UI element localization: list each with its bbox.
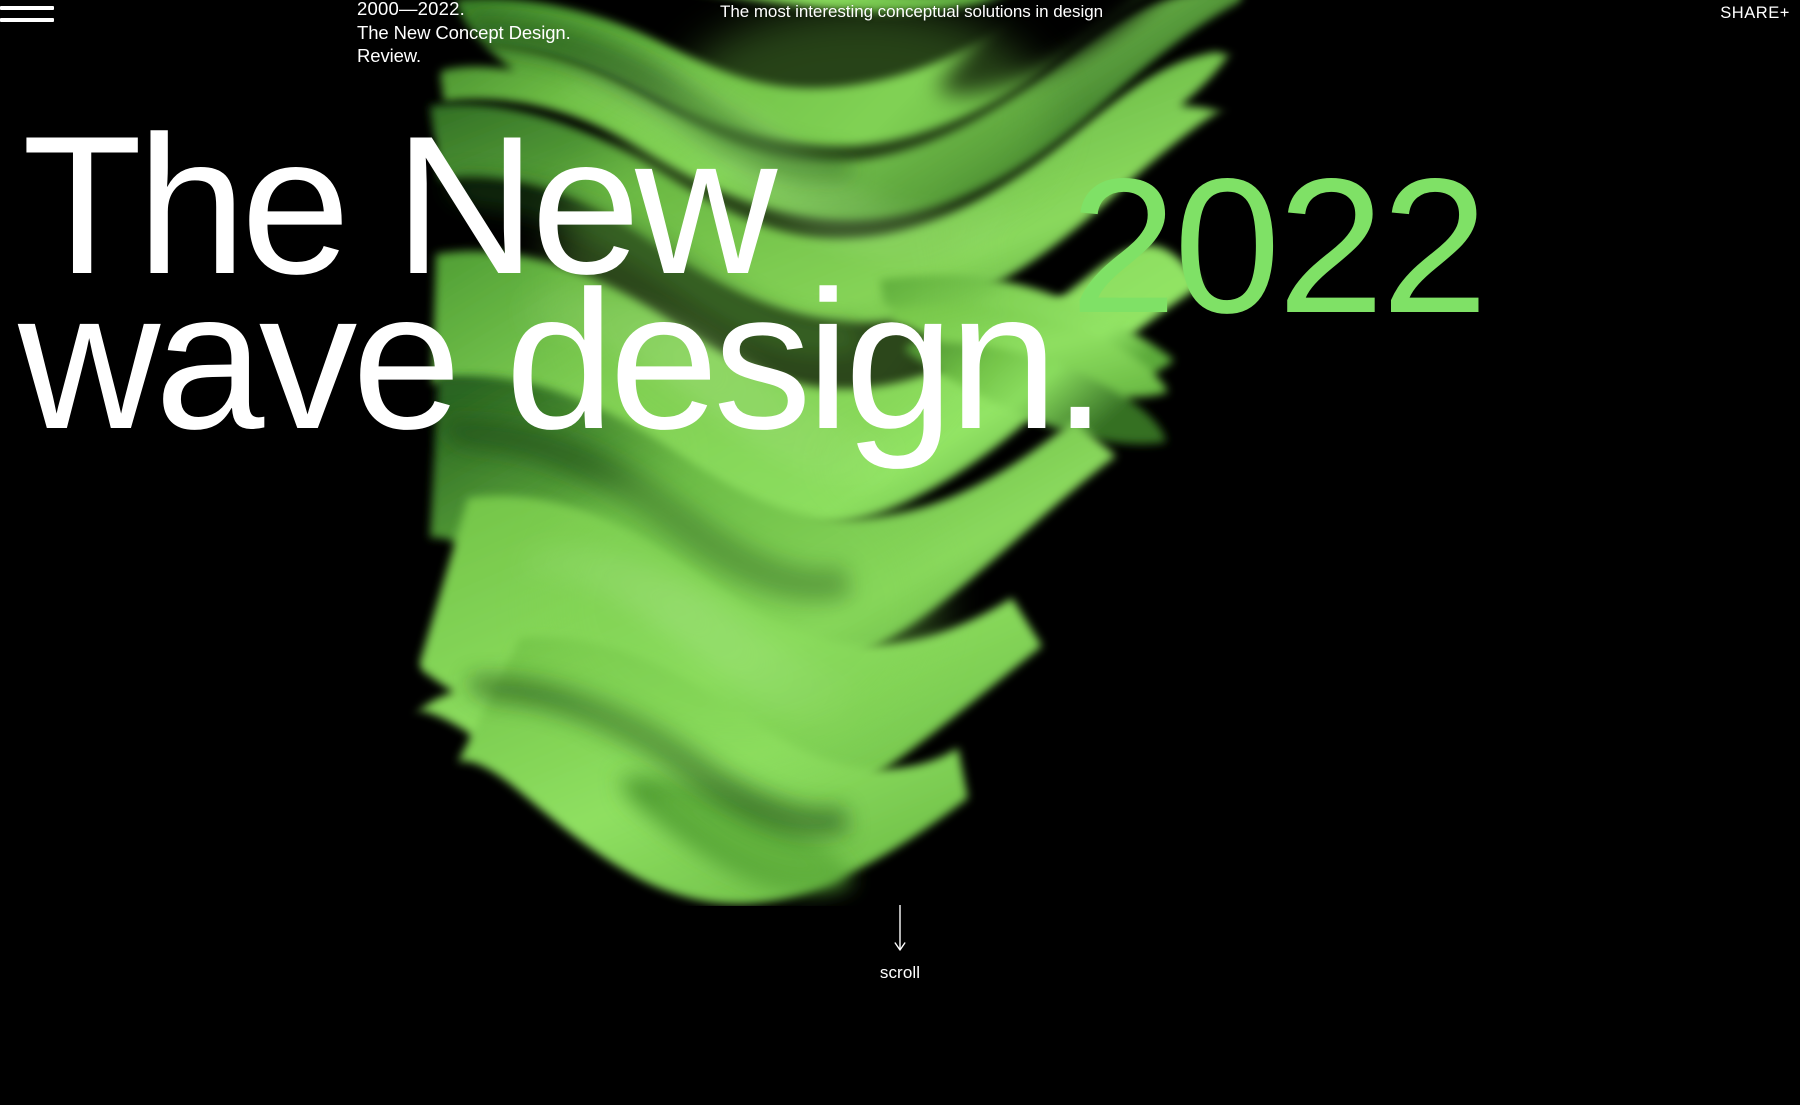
header-tagline: The most interesting conceptual solution… [720, 2, 1103, 22]
hamburger-menu-icon[interactable] [0, 2, 54, 26]
scroll-label[interactable]: scroll [0, 963, 1800, 983]
hero-year-label: 2022 [1070, 150, 1485, 342]
site-header: 2000—2022. The New Concept Design. Revie… [0, 0, 1800, 80]
share-button[interactable]: SHARE+ [1720, 4, 1790, 23]
brand-subtitle: Review. [357, 44, 697, 68]
hero-heading-line-1: The New [22, 107, 772, 304]
green-wave-graphic [0, 0, 1800, 906]
hamburger-bar-bottom [0, 18, 54, 22]
scroll-indicator[interactable]: scroll [0, 905, 1800, 983]
brand-years: 2000—2022. [357, 0, 697, 21]
page-root: 2000—2022. The New Concept Design. Revie… [0, 0, 1800, 1105]
hamburger-bar-top [0, 6, 54, 10]
hero-heading-line-2: wave design. [18, 262, 1102, 459]
arrow-down-icon [892, 905, 908, 955]
brand-description: 2000—2022. The New Concept Design. Revie… [357, 0, 697, 68]
brand-title: The New Concept Design. [357, 21, 697, 45]
